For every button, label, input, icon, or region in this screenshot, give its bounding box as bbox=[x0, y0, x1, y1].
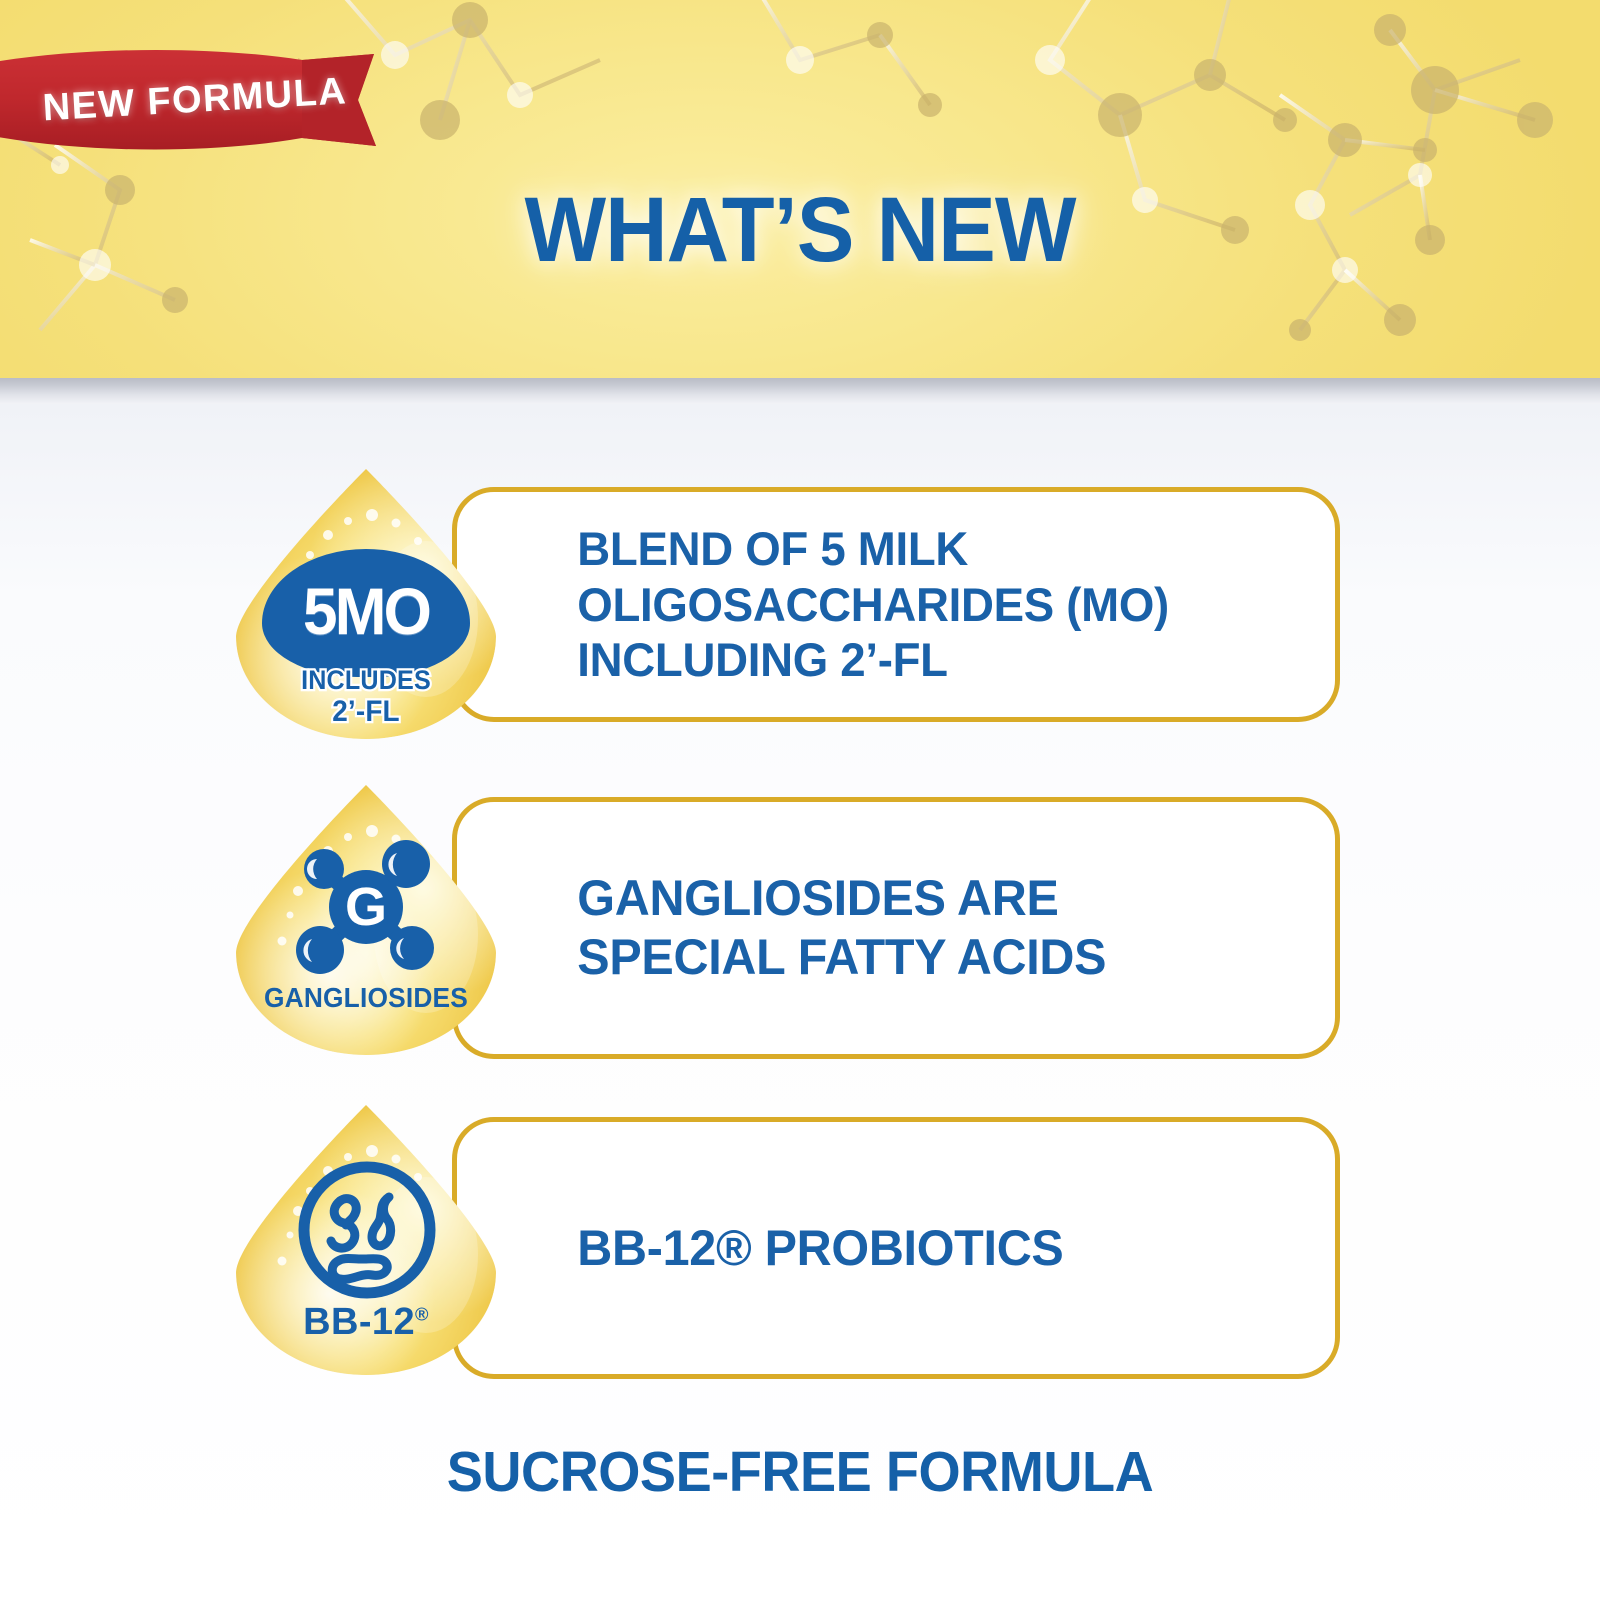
five-mo-blob: 5MO bbox=[262, 549, 470, 677]
header-banner: NEW FORMULA WHAT’S NEW bbox=[0, 0, 1600, 378]
five-mo-value: 5MO bbox=[303, 573, 429, 649]
gangliosides-molecule-icon: G bbox=[284, 837, 448, 979]
feature-card-text: BLEND OF 5 MILK OLIGOSACCHARIDES (MO) IN… bbox=[457, 521, 1309, 687]
page-title: WHAT’S NEW bbox=[48, 178, 1552, 283]
feature-card-text: GANGLIOSIDES ARE SPECIAL FATTY ACIDS bbox=[457, 869, 1309, 987]
five-mo-sub-line2: 2’-FL bbox=[245, 697, 487, 728]
bb12-label-text: BB-12 bbox=[303, 1301, 415, 1343]
feature-row-gangliosides: GANGLIOSIDES ARE SPECIAL FATTY ACIDS bbox=[0, 779, 1600, 1094]
feature-card-gangliosides[interactable]: GANGLIOSIDES ARE SPECIAL FATTY ACIDS bbox=[452, 797, 1340, 1059]
bb12-probiotic-bacteria-icon bbox=[294, 1157, 440, 1303]
features-section: BLEND OF 5 MILK OLIGOSACCHARIDES (MO) IN… bbox=[0, 404, 1600, 1600]
sucrose-free-note: SUCROSE-FREE FORMULA bbox=[40, 1439, 1560, 1505]
bb12-registered-mark: ® bbox=[415, 1303, 429, 1324]
feature-card-5mo[interactable]: BLEND OF 5 MILK OLIGOSACCHARIDES (MO) IN… bbox=[452, 487, 1340, 722]
gangliosides-droplet-label: GANGLIOSIDES bbox=[244, 982, 488, 1014]
new-formula-ribbon: NEW FORMULA bbox=[0, 42, 392, 162]
feature-row-bb12: BB-12® PROBIOTICS bbox=[0, 1099, 1600, 1414]
header-shadow-divider bbox=[0, 378, 1600, 404]
five-mo-sub-line1: INCLUDES bbox=[245, 667, 487, 695]
ribbon-label: NEW FORMULA bbox=[0, 31, 395, 173]
feature-row-5mo: BLEND OF 5 MILK OLIGOSACCHARIDES (MO) IN… bbox=[0, 459, 1600, 774]
feature-card-text: BB-12® PROBIOTICS bbox=[457, 1219, 1098, 1278]
svg-text:G: G bbox=[345, 877, 387, 937]
feature-card-bb12[interactable]: BB-12® PROBIOTICS bbox=[452, 1117, 1340, 1379]
bb12-droplet-label: BB-12® bbox=[236, 1301, 496, 1344]
